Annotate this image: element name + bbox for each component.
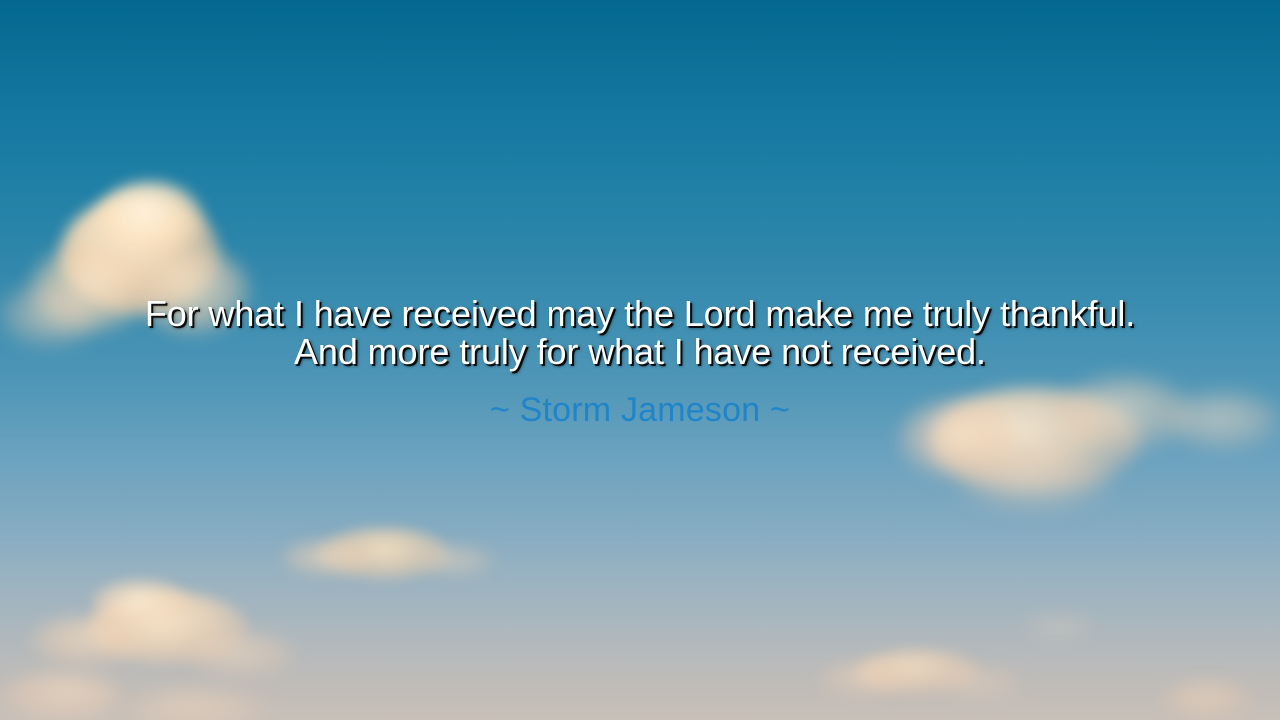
quote-text-layer: For what I have received may the Lord ma… bbox=[0, 0, 1280, 720]
quote-text: For what I have received may the Lord ma… bbox=[50, 295, 1230, 371]
quote-image: For what I have received may the Lord ma… bbox=[0, 0, 1280, 720]
quote-attribution: ~ Storm Jameson ~ bbox=[490, 371, 790, 429]
